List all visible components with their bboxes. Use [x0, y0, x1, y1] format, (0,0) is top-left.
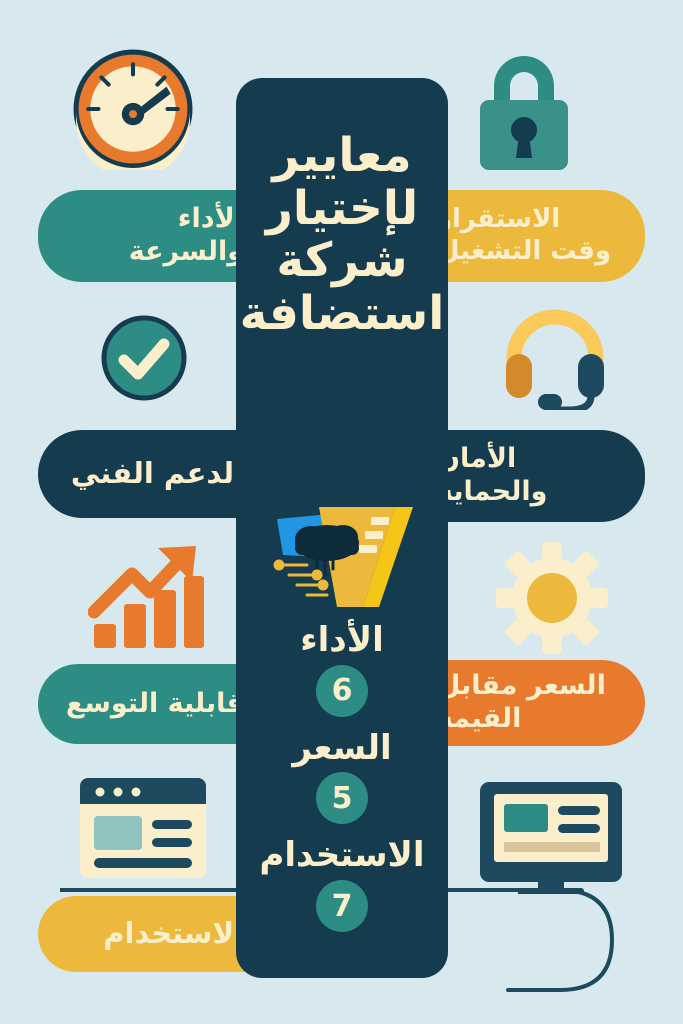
pill-label: الأداء والسرعة — [64, 203, 260, 269]
criterion-number-usage: 7 — [316, 880, 368, 932]
gear-icon — [496, 542, 608, 654]
pill-label: الاستقرار وقت التشغيل — [423, 204, 619, 267]
center-panel: معايير لإختيار شركة استضافة — [236, 78, 448, 978]
pill-label: الأمان والحماية — [423, 443, 619, 509]
criterion-number-price: 5 — [316, 772, 368, 824]
pill-scalability[interactable]: قابلية التوسع — [38, 664, 260, 744]
infographic-canvas: الأداء والسرعة الدعم الفني قابلية التوسع… — [0, 0, 683, 1024]
criterion-number-performance: 6 — [316, 665, 368, 717]
criterion-label-performance: الأداء — [236, 623, 448, 659]
pill-uptime-stability[interactable]: الاستقرار وقت التشغيل — [423, 190, 645, 282]
page-title: معايير لإختيار شركة استضافة — [236, 130, 448, 341]
monitor-icon — [476, 782, 626, 894]
pill-technical-support[interactable]: الدعم الفني — [38, 430, 260, 518]
headset-icon — [500, 306, 610, 410]
check-circle-icon — [100, 314, 188, 402]
pill-performance-speed[interactable]: الأداء والسرعة — [38, 190, 260, 282]
pill-price-value[interactable]: السعر مقابل القيمة — [423, 660, 645, 746]
browser-window-icon — [80, 778, 206, 878]
pill-security-protection[interactable]: الأمان والحماية — [423, 430, 645, 522]
pill-label: السعر مقابل القيمة — [423, 670, 619, 736]
lock-icon — [464, 42, 584, 172]
pill-label: قابلية التوسع — [64, 688, 260, 721]
criterion-label-usage: الاستخدام — [236, 838, 448, 874]
growth-chart-icon — [88, 542, 206, 652]
criteria-list: الأداء 6 السعر 5 الاستخدام 7 — [236, 623, 448, 946]
speedometer-icon — [72, 48, 194, 170]
criterion-label-price: السعر — [236, 731, 448, 767]
cloud-v-logo — [236, 498, 448, 618]
pill-label: الدعم الفني — [64, 456, 260, 491]
